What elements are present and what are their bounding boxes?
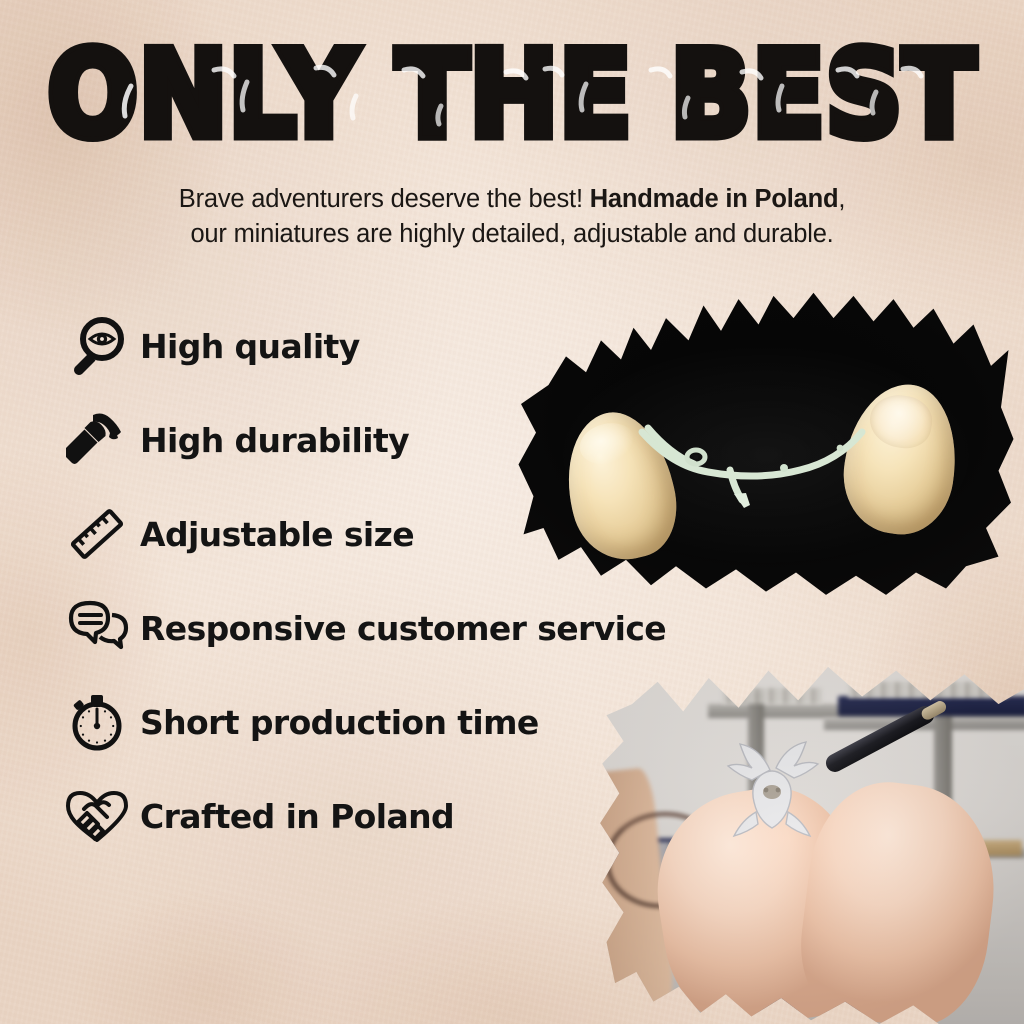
handshake-heart-icon — [60, 781, 134, 851]
feature-label: High quality — [140, 327, 360, 366]
speech-bubbles-icon — [60, 593, 134, 663]
feature-label: Responsive customer service — [140, 609, 666, 648]
hammer-icon — [60, 405, 134, 475]
feature-label: Crafted in Poland — [140, 797, 454, 836]
feature-list: High quality High durability — [60, 306, 760, 870]
feature-item-responsive-customer-service: Responsive customer service — [60, 588, 760, 668]
feature-item-high-quality: High quality — [60, 306, 760, 386]
stopwatch-icon — [60, 687, 134, 757]
feature-item-crafted-in-poland: Crafted in Poland — [60, 776, 760, 856]
magnifier-eye-icon — [60, 311, 134, 381]
feature-item-short-production-time: Short production time — [60, 682, 760, 762]
ruler-icon — [60, 499, 134, 569]
page-title: ONLY THE BEST — [48, 36, 977, 155]
subtitle-line-1: Brave adventurers deserve the best! Hand… — [0, 182, 1024, 217]
promo-poster: ONLY THE BEST Brave adventurers deserve … — [0, 0, 1024, 1024]
feature-item-high-durability: High durability — [60, 400, 760, 480]
subtitle-line-2: our miniatures are highly detailed, adju… — [0, 217, 1024, 252]
feature-item-adjustable-size: Adjustable size — [60, 494, 760, 574]
feature-label: Adjustable size — [140, 515, 414, 554]
headline-container: ONLY THE BEST — [0, 36, 1024, 142]
subtitle-line-1-pre: Brave adventurers deserve the best! — [179, 185, 590, 213]
feature-label: Short production time — [140, 703, 539, 742]
feature-label: High durability — [140, 421, 409, 460]
subtitle: Brave adventurers deserve the best! Hand… — [0, 182, 1024, 252]
subtitle-line-1-post: , — [838, 185, 845, 213]
subtitle-highlight: Handmade in Poland — [590, 185, 839, 213]
